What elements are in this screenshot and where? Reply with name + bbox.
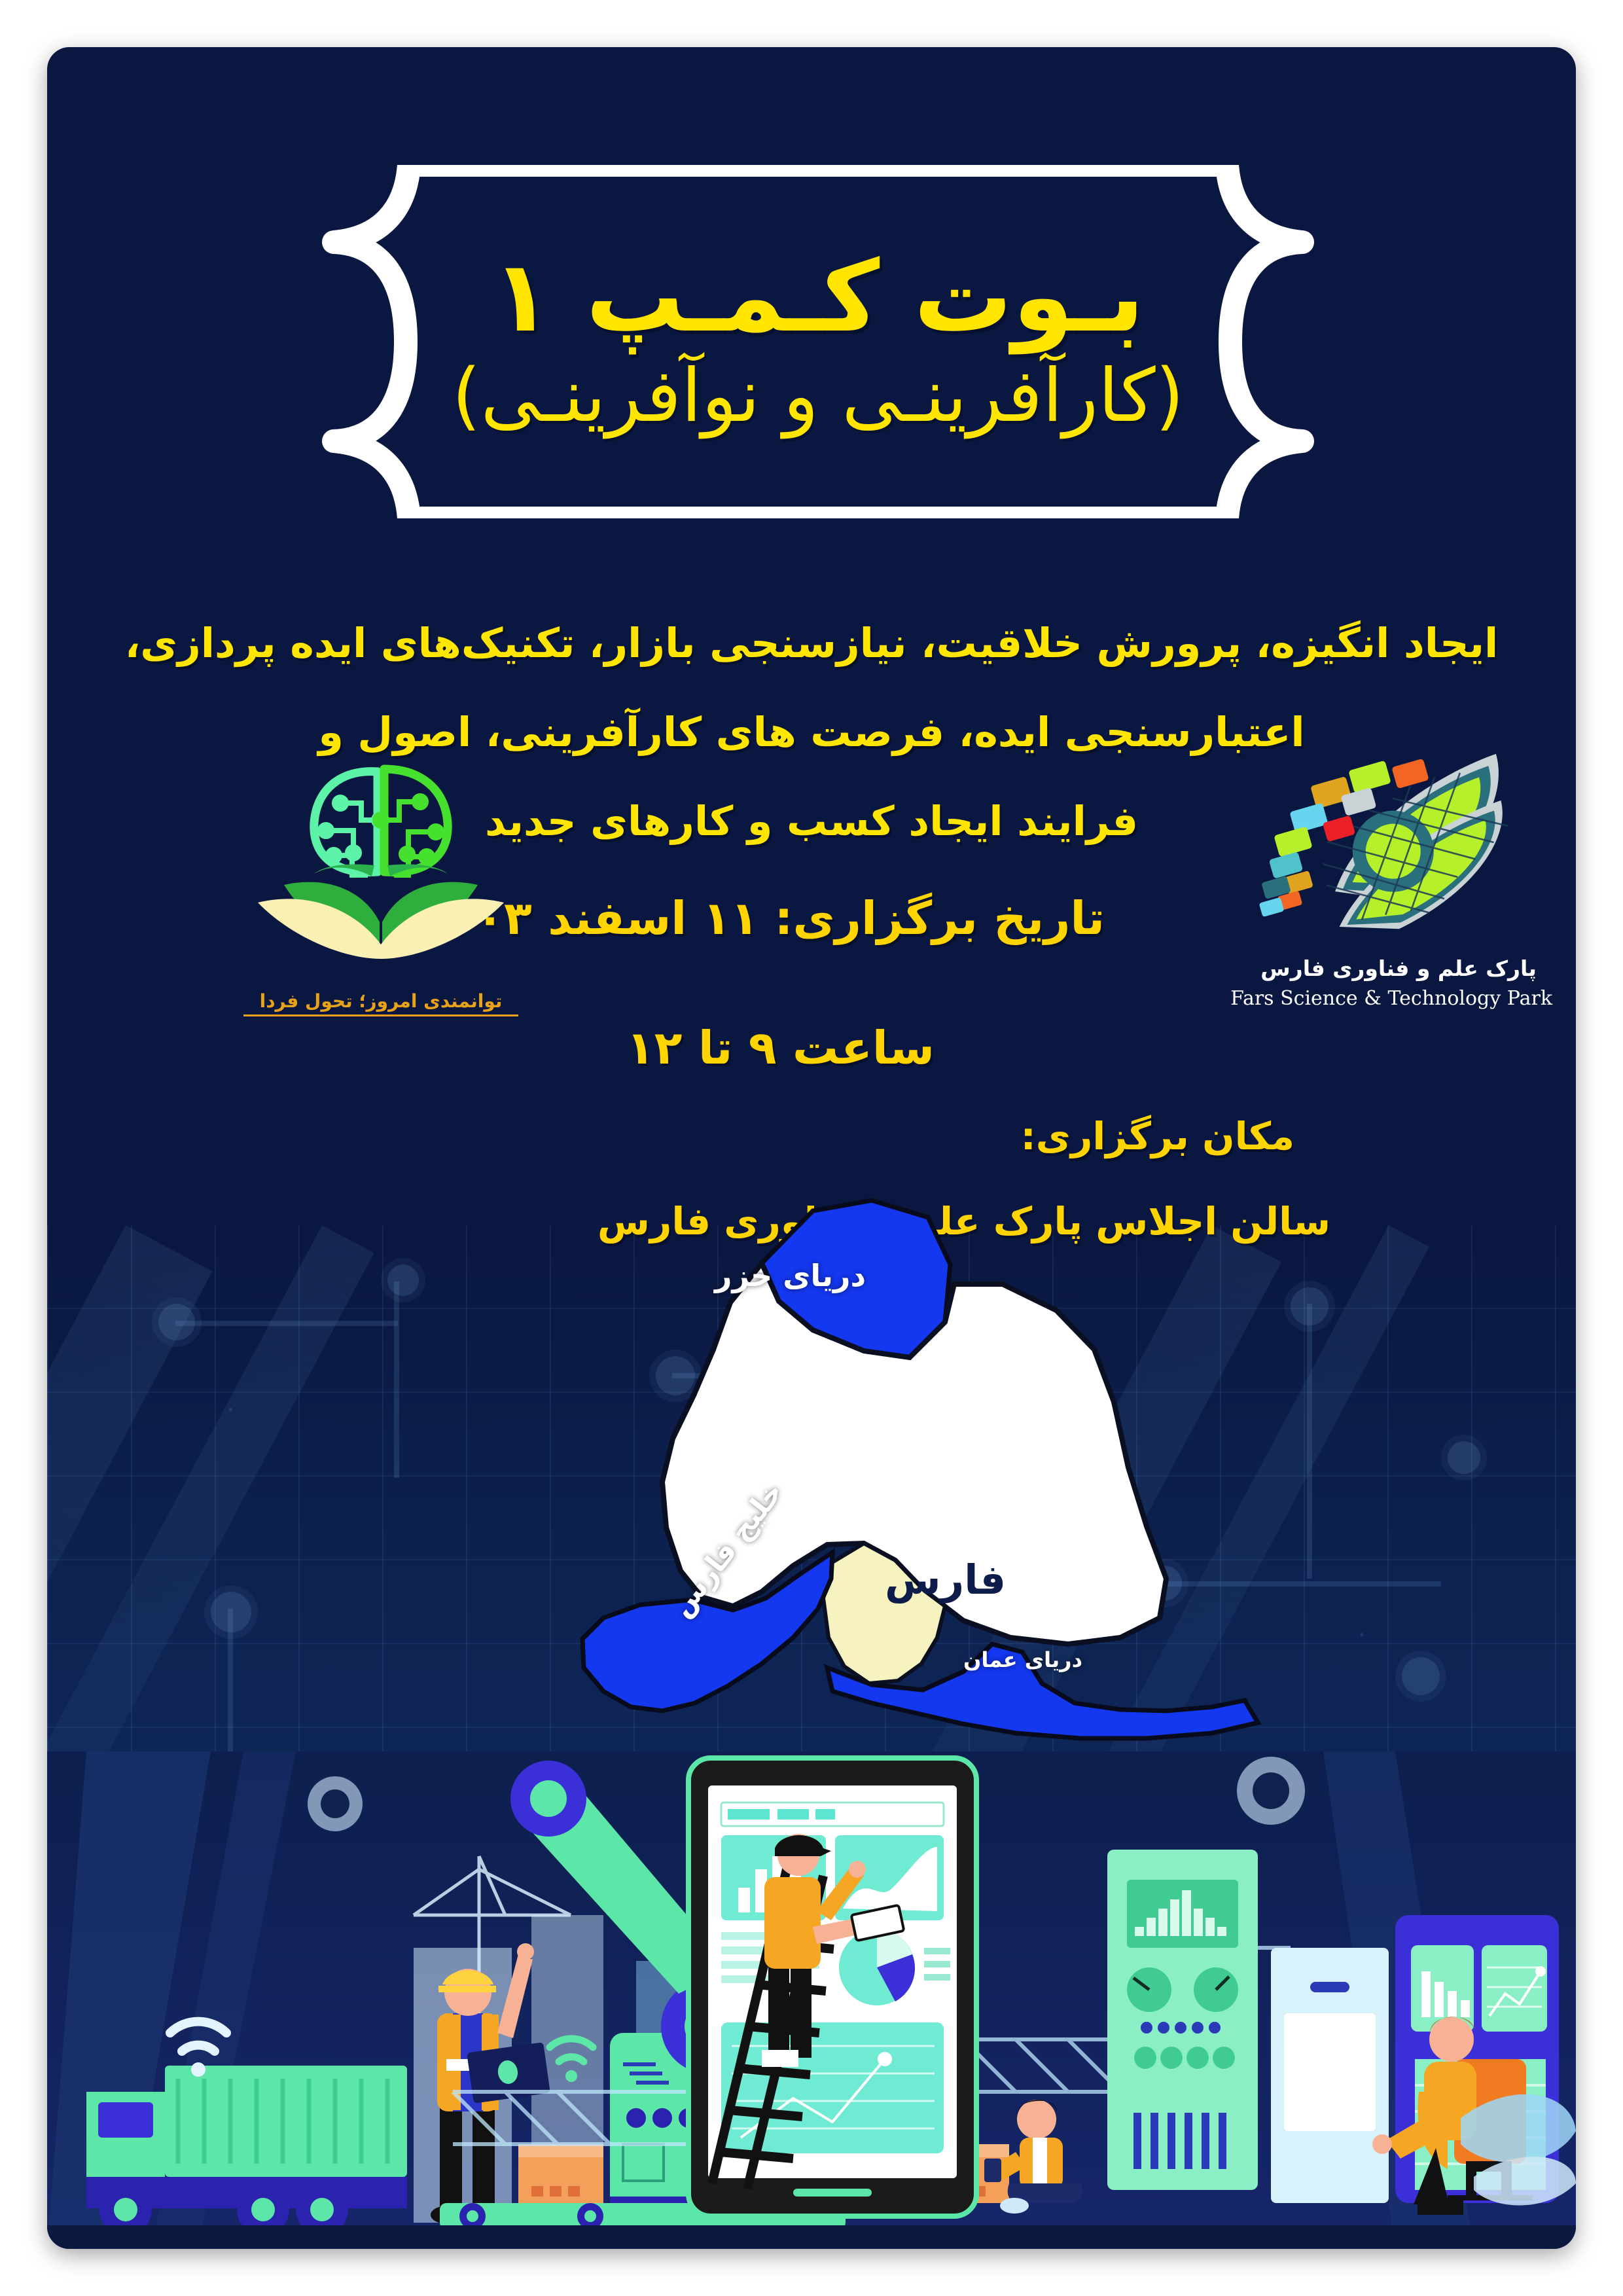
industry-4-scene-icon: [47, 1751, 1576, 2249]
poster-title: بـوت کـمـپ ۱: [491, 246, 1145, 350]
right-logo-name-en: Fars Science & Technology Park: [1245, 987, 1552, 1010]
organizer-logo-right: پارک علم و فناوری فارس Fars Science & Te…: [1245, 751, 1552, 1013]
description-line-2: اعتبارسنجی ایده، فرصت های کارآفرینی، اصو…: [47, 712, 1576, 753]
map-label-fars-province: فارس: [885, 1556, 1006, 1604]
map-label-caspian-sea: دریای خزر: [715, 1258, 866, 1293]
event-date: تاریخ برگزاری: ۱۱ اسفند ۱۴۰۳: [420, 891, 1105, 945]
event-time: ساعت ۹ تا ۱۲: [626, 1021, 935, 1075]
description-line-1: ایجاد انگیزه، پرورش خلاقیت، نیازسنجی باز…: [47, 623, 1576, 664]
title-frame: بـوت کـمـپ ۱ (کارآفرینـی و نوآفرینـی): [294, 165, 1342, 518]
poster-canvas: بـوت کـمـپ ۱ (کارآفرینـی و نوآفرینـی) ای…: [47, 47, 1576, 2249]
control-panel-icon: [1107, 1850, 1258, 2190]
map-label-oman-sea: دریای عمان: [963, 1647, 1082, 1672]
left-logo-tagline: توانمندی امروز؛ تحول فردا: [243, 990, 518, 1016]
brain-circuit-leaves-icon: [243, 751, 518, 986]
venue-label: مکان برگزاری:: [1021, 1114, 1294, 1158]
industry-illustration: [47, 1751, 1576, 2249]
poster-subtitle: (کارآفرینـی و نوآفرینـی): [452, 355, 1184, 437]
right-logo-name-fa: پارک علم و فناوری فارس: [1245, 956, 1552, 981]
fars-park-wing-icon: [1245, 751, 1552, 947]
tablet-dashboard-icon: [688, 1758, 976, 2216]
organizer-logo-left: توانمندی امروز؛ تحول فردا: [243, 751, 518, 1013]
